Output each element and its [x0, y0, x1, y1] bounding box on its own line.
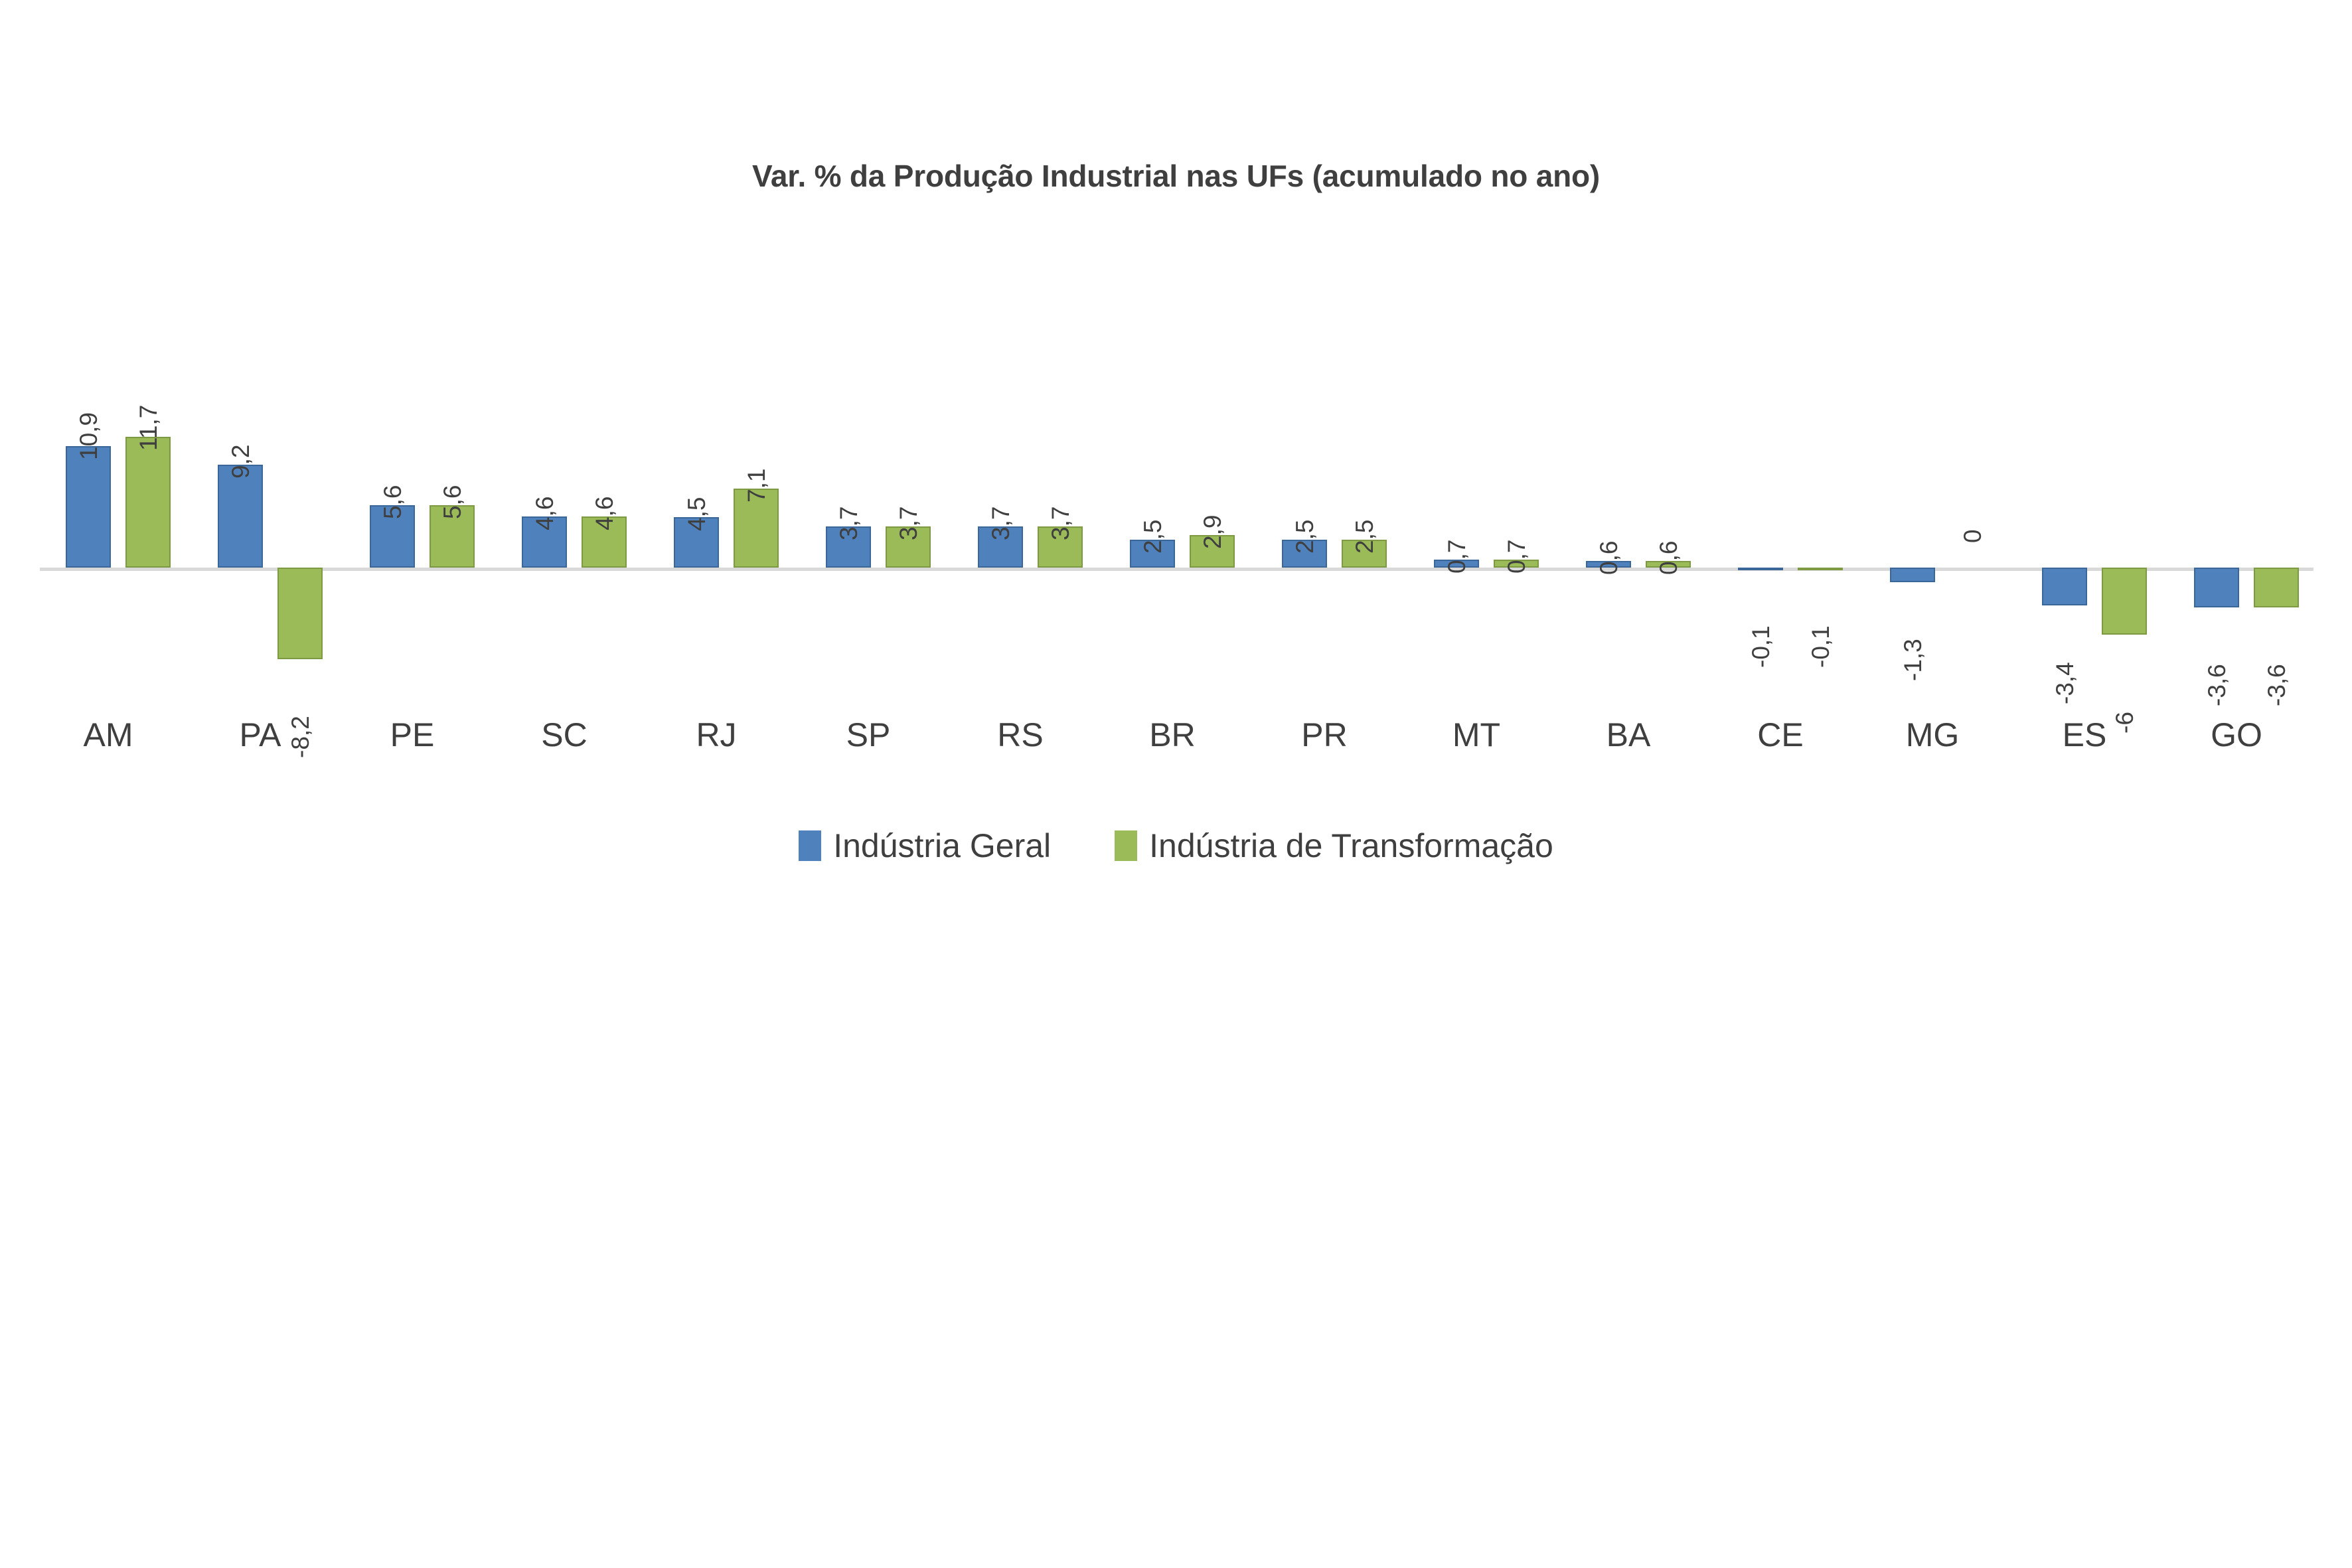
- category-label: GO: [2160, 716, 2313, 754]
- chart-container: Var. % da Produção Industrial nas UFs (a…: [0, 0, 2352, 1568]
- bar[interactable]: [66, 446, 111, 568]
- bar-value-label: 11,7: [136, 405, 161, 451]
- category-label: MG: [1856, 716, 2009, 754]
- bar-value-label: 0: [1960, 529, 1985, 543]
- legend-swatch-icon: [799, 830, 821, 861]
- category-label: SP: [792, 716, 945, 754]
- legend-label: Indústria Geral: [833, 826, 1051, 865]
- bar-value-label: 0,7: [1504, 540, 1529, 574]
- category-label: RS: [944, 716, 1097, 754]
- bar-value-label: 4,6: [532, 496, 557, 530]
- bar[interactable]: [2254, 568, 2299, 607]
- bar-value-label: 3,7: [1048, 506, 1073, 540]
- bar[interactable]: [218, 465, 263, 568]
- bar-value-label: 3,7: [988, 506, 1013, 540]
- bar[interactable]: [2102, 568, 2147, 635]
- bar-value-label: 7,1: [744, 468, 769, 502]
- bar-value-label: 3,7: [896, 506, 921, 540]
- bar[interactable]: [1798, 568, 1843, 570]
- category-label: BA: [1552, 716, 1705, 754]
- bar-value-label: 2,5: [1140, 520, 1165, 554]
- plot-area: 10,911,79,2-8,25,65,64,64,64,57,13,73,73…: [40, 252, 2317, 710]
- category-label: ES: [2008, 716, 2161, 754]
- bar-value-label: -1,3: [1901, 639, 1925, 681]
- category-axis: AMPAPESCRJSPRSBRPRMTBACEMGESGO: [40, 716, 2317, 762]
- bar-value-label: 0,7: [1445, 540, 1469, 574]
- bar[interactable]: [1890, 568, 1935, 582]
- bar-value-label: 9,2: [228, 445, 253, 479]
- bar-value-label: 2,5: [1293, 520, 1317, 554]
- category-label: SC: [488, 716, 641, 754]
- legend-swatch-icon: [1115, 830, 1137, 861]
- bar[interactable]: [2042, 568, 2087, 605]
- bar[interactable]: [1738, 568, 1783, 570]
- bar-value-label: -3,6: [2264, 665, 2289, 707]
- bar-value-label: -3,6: [2205, 665, 2229, 707]
- bar-value-label: 5,6: [380, 485, 405, 518]
- bar-value-label: 0,6: [1656, 540, 1681, 574]
- category-label: MT: [1400, 716, 1553, 754]
- bar-value-label: 4,6: [592, 496, 617, 530]
- category-label: PA: [184, 716, 337, 754]
- bar-value-label: 2,5: [1352, 520, 1377, 554]
- bar-value-label: 10,9: [76, 412, 101, 460]
- bar[interactable]: [277, 568, 323, 659]
- bar[interactable]: [125, 437, 171, 568]
- chart-title: Var. % da Produção Industrial nas UFs (a…: [0, 158, 2352, 194]
- bar-value-label: 5,6: [440, 485, 465, 518]
- bar-value-label: 4,5: [684, 497, 709, 531]
- bar-value-label: -3,4: [2053, 662, 2077, 704]
- bar-value-label: 3,7: [836, 506, 861, 540]
- legend-label: Indústria de Transformação: [1149, 826, 1553, 865]
- chart-legend: Indústria GeralIndústria de Transformaçã…: [0, 826, 2352, 865]
- category-label: AM: [32, 716, 185, 754]
- bar-value-label: 0,6: [1597, 540, 1621, 574]
- category-label: RJ: [640, 716, 793, 754]
- zero-axis-line: [40, 568, 2313, 571]
- category-label: CE: [1704, 716, 1857, 754]
- legend-item[interactable]: Indústria de Transformação: [1115, 826, 1553, 865]
- bar-value-label: -0,1: [1749, 625, 1773, 668]
- category-label: BR: [1096, 716, 1249, 754]
- category-label: PR: [1248, 716, 1401, 754]
- category-label: PE: [336, 716, 489, 754]
- bar[interactable]: [2194, 568, 2239, 607]
- legend-item[interactable]: Indústria Geral: [799, 826, 1051, 865]
- bar-value-label: -0,1: [1808, 625, 1833, 668]
- bar-value-label: 2,9: [1200, 515, 1225, 549]
